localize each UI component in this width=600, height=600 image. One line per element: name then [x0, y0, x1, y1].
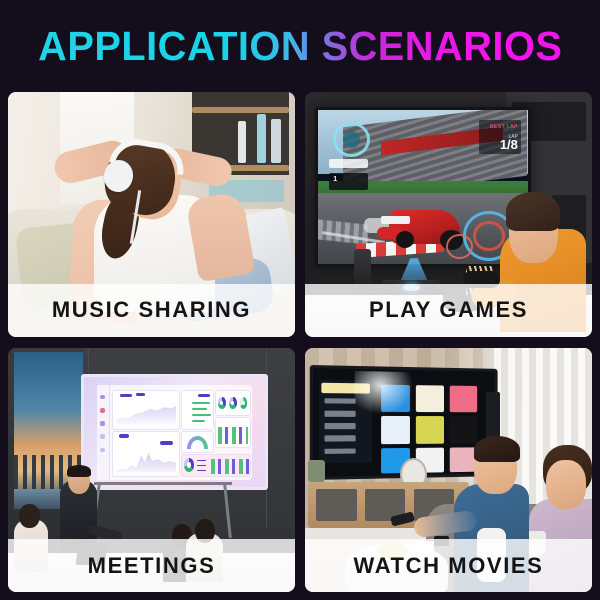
dashboard-widget-list: [181, 390, 214, 430]
shelf-upper: [192, 107, 290, 113]
mini-donut-chart: [240, 397, 248, 408]
tv-menu-item: [324, 398, 356, 404]
page-title: APPLICATION SCENARIOS: [38, 23, 562, 70]
projection-screen: 1 BEST LAP LAP 1/8: [315, 107, 531, 267]
widget-chip: [120, 394, 132, 397]
hud-small-gauge-icon: [446, 234, 473, 260]
presenter-hair: [67, 465, 91, 477]
tv-menu-item: [324, 423, 356, 429]
scenario-card-play-games[interactable]: 1 BEST LAP LAP 1/8: [305, 92, 592, 337]
woman-head: [546, 460, 586, 509]
card-label: PLAY GAMES: [369, 297, 528, 323]
tv-app-tile: [381, 416, 410, 444]
card-label: MEETINGS: [88, 553, 216, 579]
hud-lap-panel: BEST LAP LAP 1/8: [479, 120, 521, 154]
sidebar-icon: [100, 395, 105, 400]
card-label-band: PLAY GAMES: [305, 284, 592, 337]
widget-chip: [136, 393, 145, 396]
card-label: MUSIC SHARING: [52, 297, 251, 323]
widget-chip: [197, 470, 207, 472]
dashboard-widget-gauge: [181, 431, 214, 454]
tv-app-tile: [416, 416, 445, 443]
widget-legend-bar: [192, 408, 206, 410]
dashboard-widget-line-chart: [112, 431, 179, 477]
tv-menu-item: [324, 448, 356, 454]
sidebar-icon: [100, 434, 105, 439]
screen-glare: [355, 371, 418, 418]
scenario-card-meetings[interactable]: MEETINGS: [8, 348, 295, 593]
sidebar-icon: [100, 448, 105, 453]
hud-lap-caption: BEST LAP: [490, 124, 518, 130]
line-chart: [116, 445, 176, 473]
tv-app-tile: [416, 385, 445, 412]
widget-legend-bar: [192, 402, 209, 404]
widget-legend-bar: [192, 420, 204, 422]
bar-chart: [218, 427, 248, 444]
card-label-band: MUSIC SHARING: [8, 284, 295, 337]
bottle-icon: [271, 119, 281, 163]
widget-legend-bar: [192, 414, 211, 416]
console-cubby: [316, 489, 356, 521]
bottle-icon: [257, 114, 266, 163]
hud-lap-value: 1/8: [500, 137, 518, 152]
race-car-wing: [381, 216, 410, 224]
bar-chart: [211, 459, 249, 474]
gauge-chart: [187, 436, 208, 449]
mini-donut-chart: [229, 397, 237, 408]
gamer-hair: [506, 192, 561, 231]
widget-chip: [197, 465, 207, 467]
attendee-head: [19, 504, 39, 528]
area-chart: [116, 404, 176, 424]
donut-chart: [184, 458, 194, 471]
hud-position-value: 1: [333, 176, 337, 183]
sidebar-icon: [100, 421, 105, 426]
dashboard-sidebar: [97, 385, 110, 480]
widget-chip: [160, 441, 173, 445]
dashboard-widget-bar-chart: [215, 417, 251, 447]
widget-chip: [197, 460, 207, 462]
sidebar-icon: [100, 408, 105, 413]
plant-pot: [308, 460, 325, 482]
card-label: WATCH MOVIES: [354, 553, 544, 579]
mini-donut-chart: [218, 397, 226, 408]
scenario-card-grid: MUSIC SHARING: [8, 92, 592, 592]
scenario-card-watch-movies[interactable]: WATCH MOVIES: [305, 348, 592, 593]
bottle-icon: [238, 121, 246, 163]
hud-circle-gauge: [333, 122, 370, 157]
widget-chip: [119, 434, 129, 438]
tv-app-tile: [450, 416, 478, 443]
card-label-band: MEETINGS: [8, 539, 295, 592]
scenario-card-music-sharing[interactable]: MUSIC SHARING: [8, 92, 295, 337]
dashboard-widget-gauges: [215, 390, 251, 417]
tv-app-tile: [450, 385, 478, 412]
man-hair: [474, 436, 520, 463]
tv-menu-item: [324, 411, 356, 417]
widget-chip: [198, 394, 210, 397]
tv-menu-item: [324, 436, 356, 442]
presentation-screen: [81, 374, 268, 490]
page-title-container: APPLICATION SCENARIOS: [0, 0, 600, 92]
analytics-dashboard: [97, 385, 253, 480]
screen-stand-bar: [94, 482, 232, 485]
dashboard-widget-summary: [181, 454, 251, 477]
application-scenarios-page: APPLICATION SCENARIOS: [0, 0, 600, 600]
card-label-band: WATCH MOVIES: [305, 539, 592, 592]
hud-progress-bar: [329, 159, 369, 168]
dashboard-widget-area-chart: [112, 390, 179, 430]
hud-position-panel: 1: [329, 173, 369, 190]
